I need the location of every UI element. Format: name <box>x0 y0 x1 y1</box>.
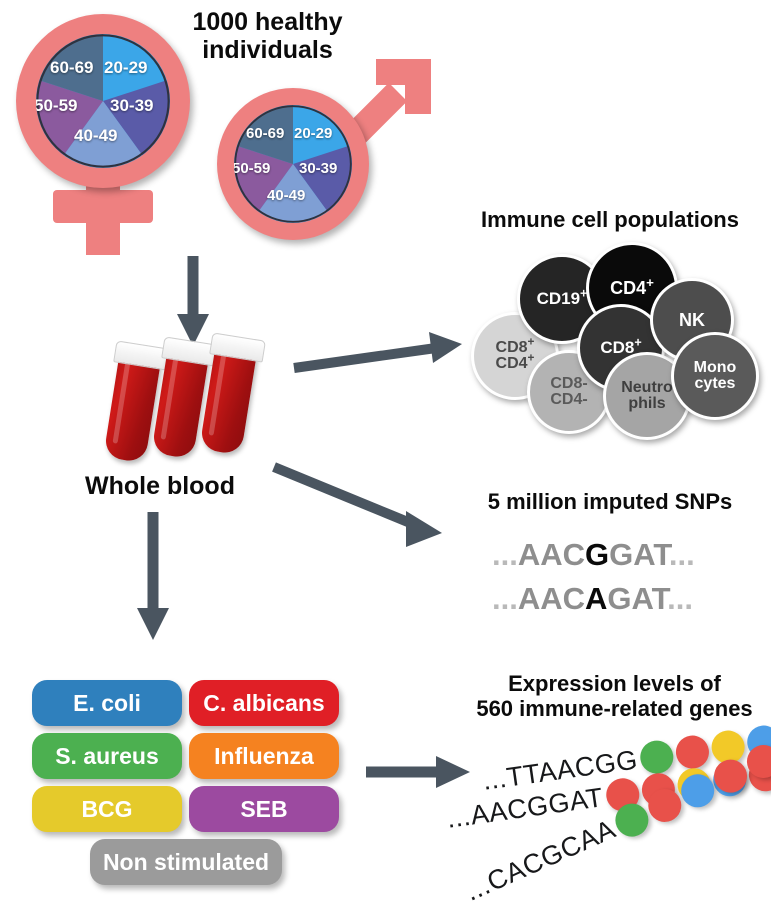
snp-right-bases: GAT <box>609 537 669 572</box>
female-slice-label-50-59: 50-59 <box>36 96 77 116</box>
female-age-pie: 20-29 30-39 40-49 50-59 60-69 <box>36 34 170 168</box>
male-symbol: 20-29 30-39 40-49 50-59 60-69 <box>205 60 425 250</box>
stimulus-bcg[interactable]: BCG <box>32 786 182 832</box>
female-crossbar <box>53 190 153 223</box>
stimuli-panel: E. coli C. albicans S. aureus Influenza … <box>32 680 352 900</box>
snp-right-bases: GAT <box>607 581 667 616</box>
immune-cell-populations-header: Immune cell populations <box>455 208 765 233</box>
immune-bubble-label: CD8+CD4+ <box>496 340 535 373</box>
snp-suffix: ... <box>667 581 693 616</box>
female-slice-label-20-29: 20-29 <box>104 58 147 78</box>
arrow-blood-to-stimuli <box>132 512 174 642</box>
female-slice-label-40-49: 40-49 <box>74 126 117 146</box>
snp-sequence-row: ...AACAGAT... <box>492 581 693 617</box>
immune-bubble-label: CD4+ <box>610 279 654 297</box>
stimulus-influenza[interactable]: Influenza <box>189 733 339 779</box>
stimulus-e-coli[interactable]: E. coli <box>32 680 182 726</box>
male-slice-label-60-69: 60-69 <box>246 125 284 142</box>
female-slice-label-30-39: 30-39 <box>110 96 153 116</box>
dna-bead-green <box>638 738 675 775</box>
immune-cell-bubbles: CD8+CD4+ CD19+ CD4+ CD8-CD4- CD8+ Neutro… <box>455 240 771 420</box>
stimulus-c-albicans[interactable]: C. albicans <box>189 680 339 726</box>
arrow-blood-to-snps <box>270 455 460 555</box>
immune-bubble-label: Neutrophils <box>621 380 673 413</box>
male-slice-label-20-29: 20-29 <box>294 125 332 142</box>
stimulus-s-aureus[interactable]: S. aureus <box>32 733 182 779</box>
immune-bubble-label: NK <box>679 311 705 329</box>
stimulus-non-stimulated[interactable]: Non stimulated <box>90 839 282 885</box>
male-slice-label-40-49: 40-49 <box>267 187 305 204</box>
male-slice-label-50-59: 50-59 <box>234 160 270 177</box>
snp-variant-base: A <box>585 581 607 616</box>
dna-bead-red <box>674 733 711 770</box>
female-slice-label-60-69: 60-69 <box>50 58 93 78</box>
figure-canvas: 1000 healthyindividuals 20-29 30-39 40-4… <box>0 0 771 922</box>
immune-bubble-label: CD19+ <box>537 290 588 307</box>
immune-bubble-monocytes: Monocytes <box>671 332 759 420</box>
whole-blood-label: Whole blood <box>60 472 260 500</box>
snps-header: 5 million imputed SNPs <box>460 490 760 515</box>
arrow-cohort-to-blood <box>172 256 214 348</box>
snp-suffix: ... <box>669 537 695 572</box>
stimulus-seb[interactable]: SEB <box>189 786 339 832</box>
snp-variant-base: G <box>585 537 609 572</box>
male-age-pie: 20-29 30-39 40-49 50-59 60-69 <box>234 105 352 223</box>
immune-bubble-label: Monocytes <box>694 360 737 393</box>
snp-prefix: ... <box>492 537 518 572</box>
immune-bubble-label: CD8-CD4- <box>550 376 587 409</box>
female-symbol: 20-29 30-39 40-49 50-59 60-69 <box>8 10 198 260</box>
arrow-blood-to-immune-cells <box>290 330 465 390</box>
snp-prefix: ... <box>492 581 518 616</box>
male-slice-label-30-39: 30-39 <box>299 160 337 177</box>
snp-left-bases: AAC <box>518 537 585 572</box>
expression-header: Expression levels of560 immune-related g… <box>462 672 767 721</box>
blood-tubes-group <box>95 340 270 465</box>
dna-strands-group: ...TTAACGG ...AACGGAT ...CACGCAA <box>455 735 771 915</box>
snp-left-bases: AAC <box>518 581 585 616</box>
snp-sequence-row: ...AACGGAT... <box>492 537 695 573</box>
